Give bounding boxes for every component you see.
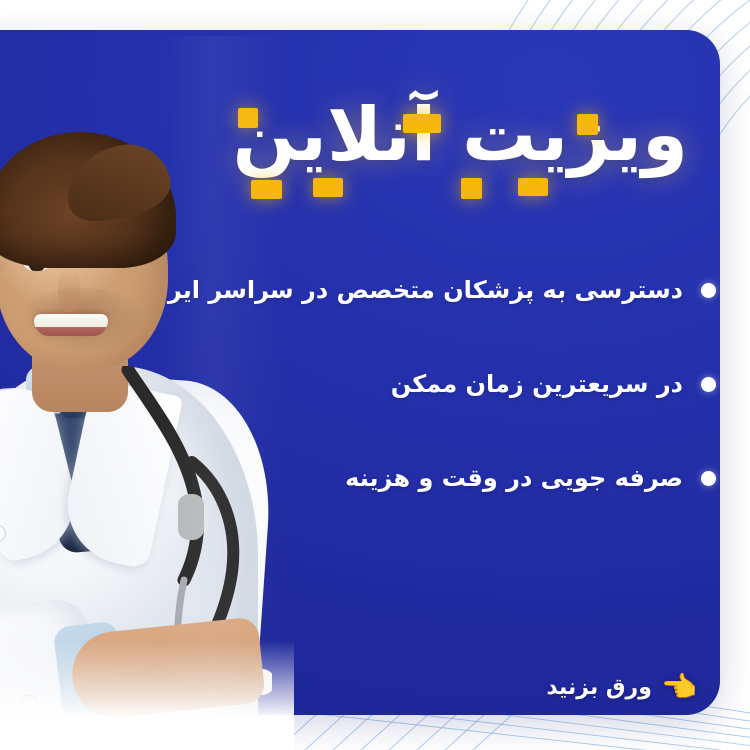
page-title-text: ویزیت آنلاین	[233, 92, 688, 178]
accent-square-icon	[518, 178, 548, 196]
feature-label: در سریعترین زمان ممکن	[391, 366, 683, 402]
accent-square-icon	[403, 114, 441, 133]
accent-square-icon	[577, 114, 598, 135]
swipe-cta[interactable]: 👉 ورق بزنید	[546, 673, 698, 702]
nose	[58, 268, 80, 312]
pointing-hand-icon: 👉	[662, 673, 698, 702]
poster-canvas: ویزیت آنلاین دسترسی به پزشکان متخصص در س…	[0, 0, 750, 750]
swipe-cta-label: ورق بزنید	[546, 675, 652, 700]
sleeve-button	[22, 696, 36, 710]
mouth	[34, 314, 108, 336]
doctor-photo	[0, 36, 284, 750]
page-title: ویزیت آنلاین	[218, 96, 688, 176]
accent-square-icon	[313, 178, 343, 197]
feature-label: صرفه جویی در وقت و هزینه	[345, 460, 683, 496]
dot-bullet-icon	[701, 377, 716, 392]
accent-square-icon	[461, 178, 482, 199]
dot-bullet-icon	[701, 283, 716, 298]
dot-bullet-icon	[701, 471, 716, 486]
